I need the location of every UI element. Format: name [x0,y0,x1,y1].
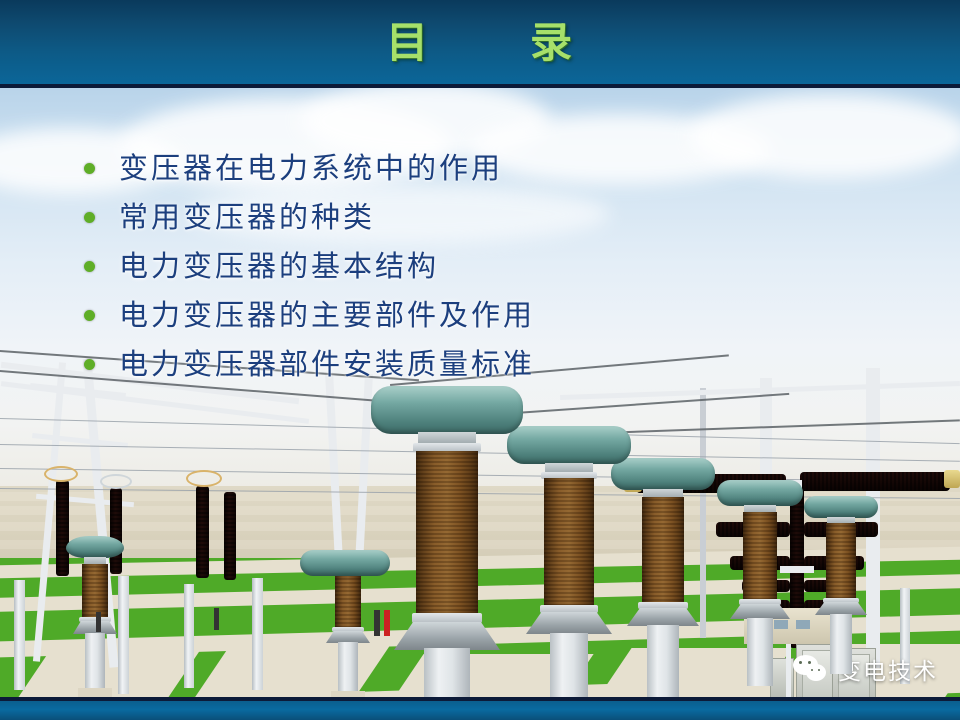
insulator-fitting [944,470,960,488]
bullet-dot-icon [84,359,95,370]
support-post [252,578,263,690]
list-item-label: 常用变压器的种类 [119,201,375,235]
support-post [184,584,194,688]
list-item[interactable]: 常用变压器的种类 [84,193,804,242]
composite-insulator [800,472,950,491]
list-item-label: 电力变压器部件安装质量标准 [119,348,535,382]
bullet-dot-icon [84,310,95,321]
composite-insulator [224,492,236,580]
support-post [14,580,25,690]
bullet-dot-icon [84,163,95,174]
presentation-slide: 目 录 变压器在电力系统中的作用 常用变压器的种类 电力变压器的基本结构 电力变… [0,0,960,720]
table-of-contents-list: 变压器在电力系统中的作用 常用变压器的种类 电力变压器的基本结构 电力变压器的主… [84,144,804,389]
bullet-dot-icon [84,212,95,223]
phase-marker [96,612,101,632]
list-item[interactable]: 电力变压器的主要部件及作用 [84,291,804,340]
corona-ring [186,470,222,487]
list-item[interactable]: 变压器在电力系统中的作用 [84,144,804,193]
list-item[interactable]: 电力变压器部件安装质量标准 [84,340,804,389]
list-item-label: 电力变压器的主要部件及作用 [119,299,535,333]
list-item[interactable]: 电力变压器的基本结构 [84,242,804,291]
corona-ring [100,474,132,489]
bullet-dot-icon [84,261,95,272]
slide-title-banner: 目 录 [0,0,960,88]
list-item-label: 变压器在电力系统中的作用 [119,152,503,186]
list-item-label: 电力变压器的基本结构 [119,250,439,284]
composite-insulator [196,486,209,578]
page-title: 目 录 [0,18,960,70]
support-post [118,576,129,694]
slide-bottom-bar [0,697,960,720]
phase-marker [214,608,219,630]
cvt-unit-main [352,386,542,697]
corona-ring [44,466,78,482]
